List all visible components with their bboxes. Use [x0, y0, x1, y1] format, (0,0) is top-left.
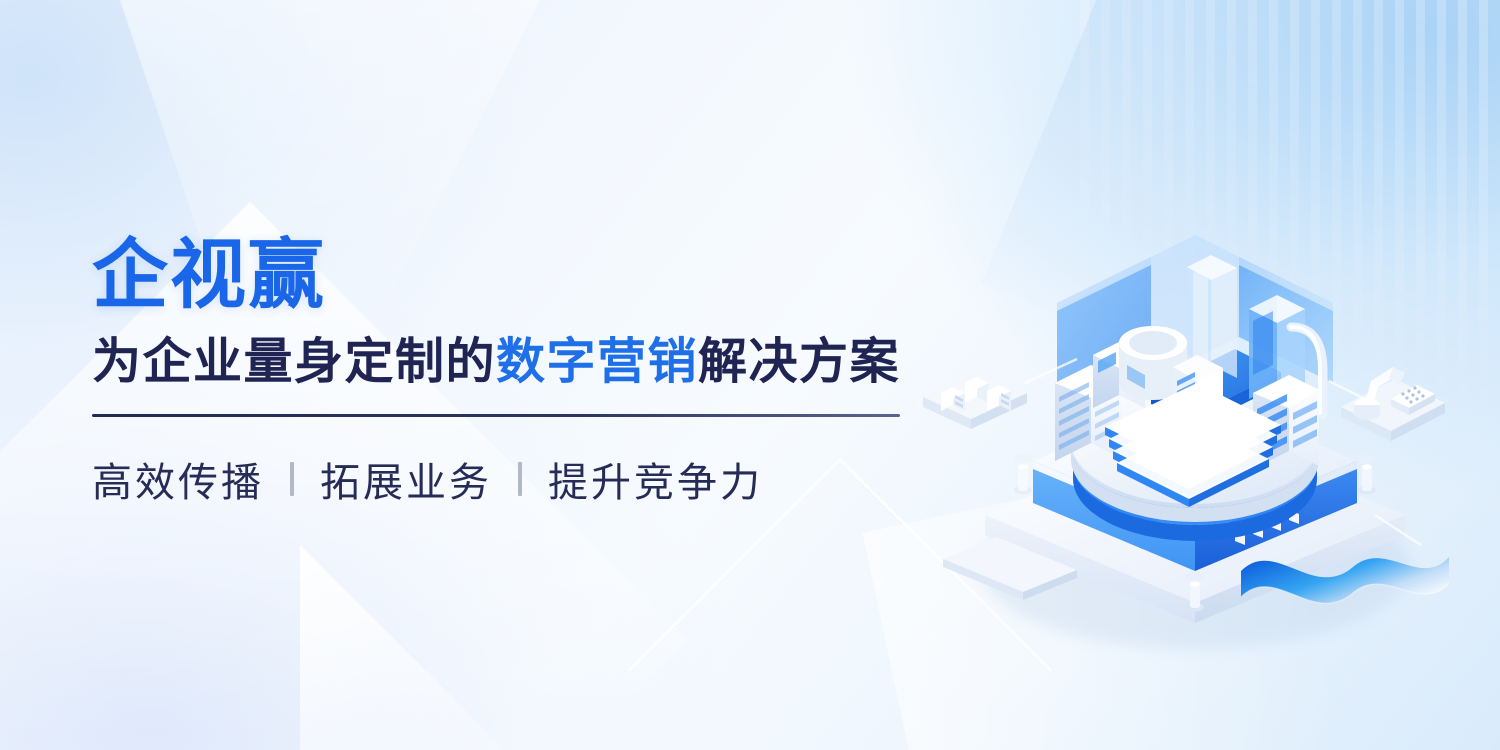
headline-text-after: 解决方案 — [698, 335, 900, 389]
brand-logo-text: 企视赢 — [92, 236, 952, 316]
tagline-item-1: 拓展业务 — [320, 450, 492, 508]
background-diagonal-shape-bottomleft — [300, 545, 630, 750]
hero-banner: 企视赢 为企业量身定制的数字营销解决方案 高效传播 拓展业务 提升竞争力 — [0, 0, 1500, 750]
tagline-separator-icon — [518, 462, 522, 496]
hero-headline: 为企业量身定制的数字营销解决方案 — [92, 334, 952, 392]
tagline-item-0: 高效传播 — [92, 450, 264, 508]
robot-arm-tile — [1341, 367, 1445, 441]
hero-divider-line — [92, 414, 900, 417]
tagline-separator-icon — [290, 462, 294, 496]
headline-text-before: 为企业量身定制的 — [92, 335, 496, 389]
headline-text-accent: 数字营销 — [496, 335, 698, 389]
smart-city-illustration — [905, 215, 1485, 685]
tagline-item-2: 提升竞争力 — [548, 450, 763, 508]
connector-line-right — [1329, 381, 1373, 403]
hero-tagline: 高效传播 拓展业务 提升竞争力 — [92, 450, 952, 508]
hero-text-block: 企视赢 为企业量身定制的数字营销解决方案 高效传播 拓展业务 提升竞争力 — [92, 236, 952, 508]
